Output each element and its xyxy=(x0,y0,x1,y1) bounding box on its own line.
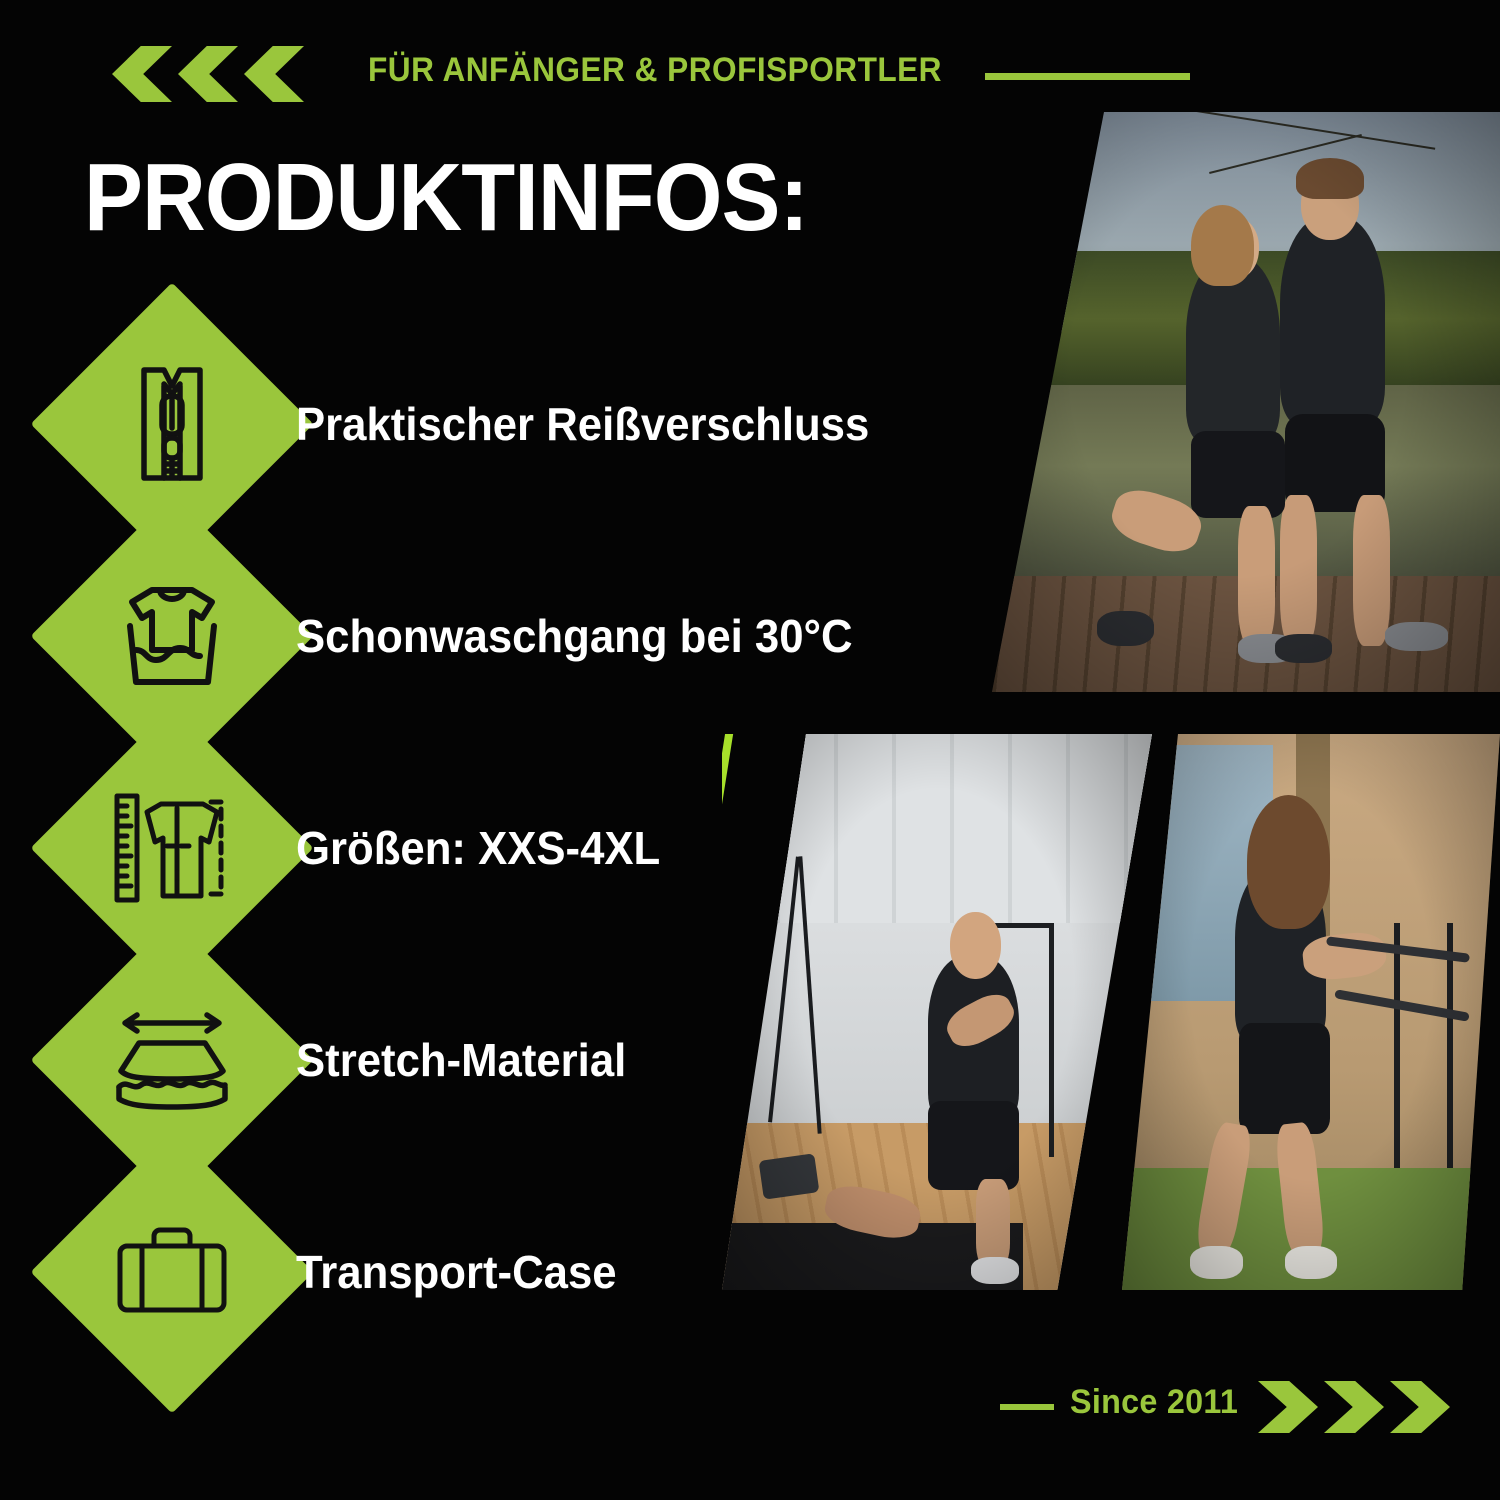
feature-label: Stretch-Material xyxy=(296,1036,626,1084)
suitcase-icon xyxy=(72,1172,272,1372)
photo-couple-stretching-lakeside xyxy=(976,112,1500,692)
feature-item: Praktischer Reißverschluss xyxy=(0,318,960,530)
footer-chevron-group xyxy=(1258,1381,1450,1433)
feature-item: Schonwaschgang bei 30°C xyxy=(0,530,960,742)
chevron-right-icon xyxy=(1258,1381,1318,1433)
feature-icon-diamond xyxy=(72,748,272,948)
feature-icon-diamond xyxy=(72,960,272,1160)
footer-accent-line xyxy=(1000,1404,1054,1410)
washing-tshirt-icon xyxy=(72,536,272,736)
header-accent-line xyxy=(985,73,1190,80)
photo-group-bottom xyxy=(722,734,1500,1290)
zipper-icon xyxy=(72,324,272,524)
footer-since-label: Since 2011 xyxy=(1070,1383,1238,1422)
page-title: PRODUKTINFOS: xyxy=(84,150,808,246)
chevron-left-icon xyxy=(112,46,172,102)
chevron-right-icon xyxy=(1324,1381,1384,1433)
chevron-right-icon xyxy=(1390,1381,1450,1433)
header-chevron-group xyxy=(112,46,304,102)
photo-image xyxy=(976,112,1500,692)
stretch-fabric-icon xyxy=(72,960,272,1160)
feature-label: Praktischer Reißverschluss xyxy=(296,400,869,448)
ruler-shirt-size-icon xyxy=(72,748,272,948)
chevron-left-icon xyxy=(244,46,304,102)
feature-icon-diamond xyxy=(72,324,272,524)
feature-icon-diamond xyxy=(72,536,272,736)
photo-man-trx-lunge-gym xyxy=(722,734,1152,1290)
feature-icon-diamond xyxy=(72,1172,272,1372)
photo-woman-battle-ropes xyxy=(1122,734,1500,1290)
feature-label: Transport-Case xyxy=(296,1248,617,1296)
feature-label: Größen: XXS-4XL xyxy=(296,824,660,872)
header-tagline: FÜR ANFÄNGER & PROFISPORTLER xyxy=(368,53,942,87)
photo-image xyxy=(722,734,1152,1290)
photo-frame xyxy=(976,112,1500,692)
header-bar: FÜR ANFÄNGER & PROFISPORTLER xyxy=(0,20,1500,90)
feature-label: Schonwaschgang bei 30°C xyxy=(296,612,853,660)
photo-image xyxy=(1122,734,1500,1290)
infographic-canvas: FÜR ANFÄNGER & PROFISPORTLER PRODUKTINFO… xyxy=(0,0,1500,1500)
chevron-left-icon xyxy=(178,46,238,102)
